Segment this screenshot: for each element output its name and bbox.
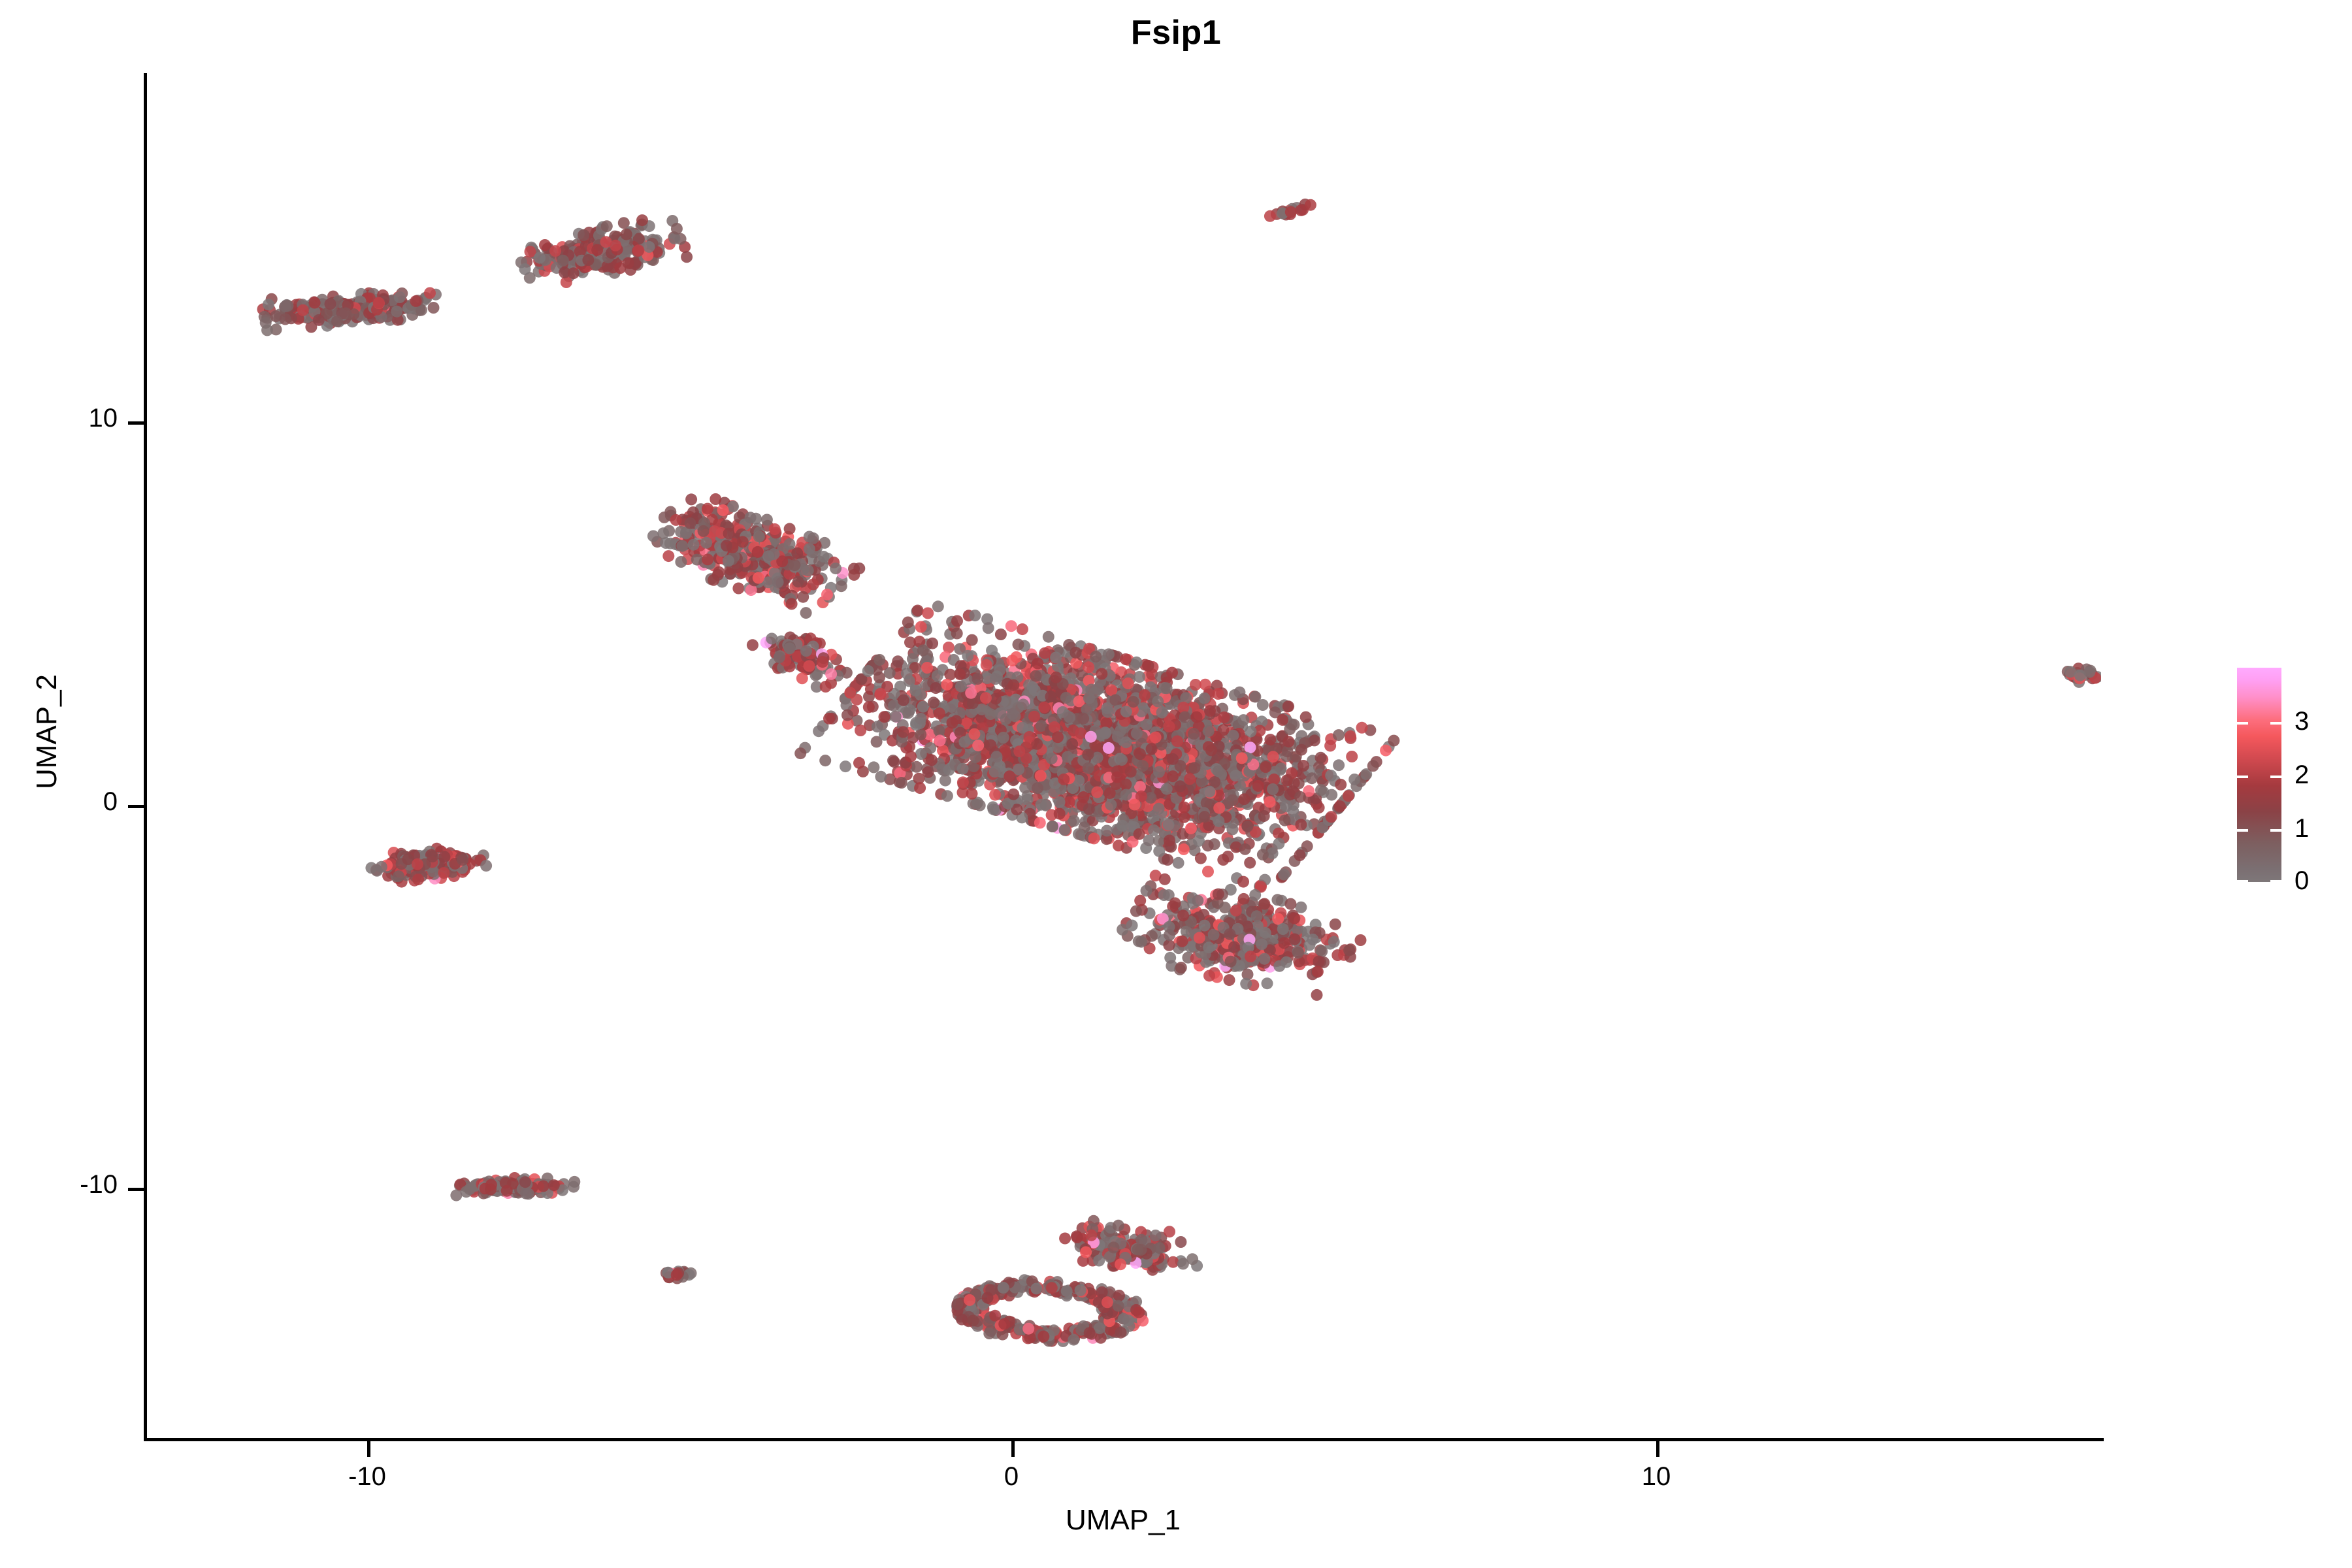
y-tick-label-neg10: -10 xyxy=(0,1170,118,1200)
x-axis-line xyxy=(144,1438,2104,1441)
legend-tick-mark-1-right xyxy=(2270,829,2281,832)
x-tick-mark-neg10 xyxy=(367,1441,370,1457)
color-gradient-bar xyxy=(2237,668,2281,882)
legend-label-0: 0 xyxy=(2295,868,2352,894)
x-tick-label-10: 10 xyxy=(1591,1462,1722,1492)
legend-tick-mark-0-left xyxy=(2237,880,2248,883)
x-tick-mark-10 xyxy=(1656,1441,1659,1457)
legend-tick-mark-0-right xyxy=(2270,880,2281,883)
scatter-points-layer xyxy=(145,73,2101,1439)
y-tick-mark-0 xyxy=(128,805,144,808)
plot-panel xyxy=(145,73,2101,1439)
legend-label-2: 2 xyxy=(2295,762,2352,788)
x-axis-title: UMAP_1 xyxy=(145,1504,2101,1537)
x-tick-mark-0 xyxy=(1011,1441,1015,1457)
x-tick-label-0: 0 xyxy=(946,1462,1077,1492)
y-tick-mark-10 xyxy=(128,421,144,425)
y-tick-mark-neg10 xyxy=(128,1188,144,1191)
color-legend: 3 2 1 0 xyxy=(2237,668,2342,890)
legend-tick-mark-2-left xyxy=(2237,776,2248,778)
legend-label-3: 3 xyxy=(2295,708,2352,734)
legend-tick-mark-3-right xyxy=(2270,722,2281,725)
legend-tick-mark-2-right xyxy=(2270,776,2281,778)
page-title: Fsip1 xyxy=(0,13,2352,52)
legend-tick-mark-1-left xyxy=(2237,829,2248,832)
y-tick-label-10: 10 xyxy=(0,404,118,433)
legend-tick-mark-3-left xyxy=(2237,722,2248,725)
x-tick-label-neg10: -10 xyxy=(302,1462,433,1492)
umap-feature-plot: Fsip1 10 0 -10 -10 0 10 UMAP_1 UMAP_2 3 … xyxy=(0,0,2352,1568)
legend-label-1: 1 xyxy=(2295,815,2352,841)
y-axis-line xyxy=(144,73,147,1441)
y-axis-title: UMAP_2 xyxy=(31,536,63,928)
